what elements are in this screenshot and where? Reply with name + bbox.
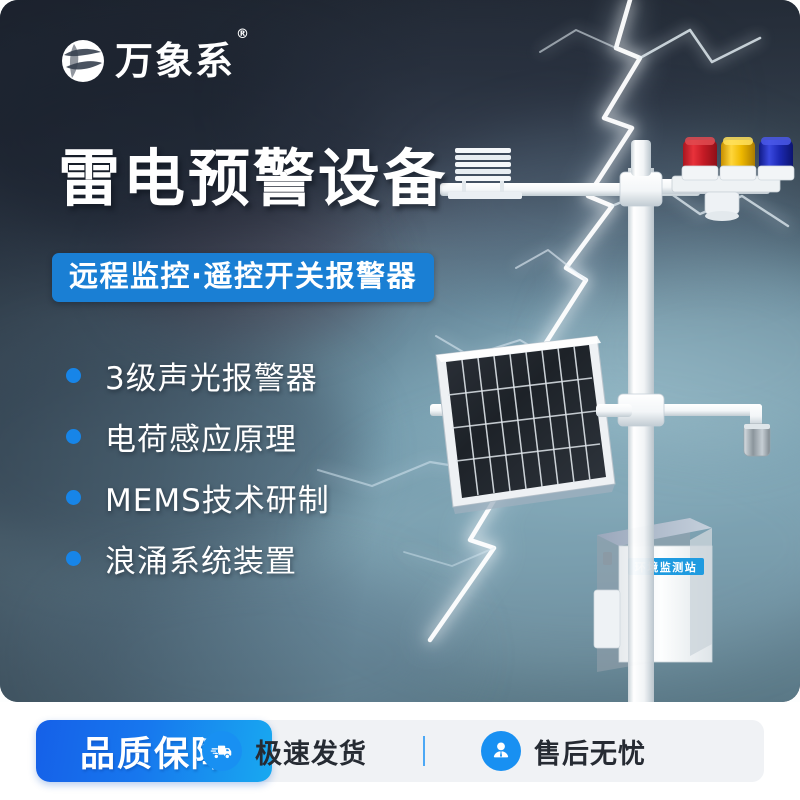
red-alarm-beacon <box>682 137 718 180</box>
promo-banner-page: 环境监测站 万象系® 雷电预警设备 远程监控·遥控开关报警器 <box>0 0 800 800</box>
blue-alarm-beacon <box>758 137 794 180</box>
brand-name: 万象系® <box>115 42 250 80</box>
mounting-pole-front <box>628 500 654 702</box>
camera-sensor <box>744 424 770 456</box>
yellow-alarm-beacon <box>720 137 756 180</box>
list-item: 3级声光报警器 <box>66 345 330 405</box>
feature-label: 3级声光报警器 <box>105 353 318 398</box>
divider <box>423 736 425 766</box>
hero-image: 环境监测站 万象系® 雷电预警设备 远程监控·遥控开关报警器 <box>0 0 800 702</box>
subtitle-badge: 远程监控·遥控开关报警器 <box>52 253 434 302</box>
feature-label: 浪涌系统装置 <box>105 536 297 581</box>
list-item: MEMS技术研制 <box>66 467 330 527</box>
page-title: 雷电预警设备 <box>58 148 448 210</box>
brand-logo[interactable]: 万象系® <box>60 38 250 84</box>
list-item: 浪涌系统装置 <box>66 528 330 588</box>
bullet-dot-icon <box>66 429 81 444</box>
registered-trademark-mark: ® <box>236 27 251 42</box>
feature-label: MEMS技术研制 <box>105 475 330 520</box>
delivery-truck-icon <box>202 731 242 771</box>
after-sales-item[interactable]: 售后无忧 <box>481 731 646 771</box>
pole-collar-upper <box>620 172 662 206</box>
bullet-dot-icon <box>66 490 81 505</box>
list-item: 电荷感应原理 <box>66 406 330 466</box>
after-sales-label: 售后无忧 <box>534 732 646 771</box>
feature-list: 3级声光报警器 电荷感应原理 MEMS技术研制 浪涌系统装置 <box>66 345 330 589</box>
fast-shipping-item[interactable]: 极速发货 <box>202 731 367 771</box>
bullet-dot-icon <box>66 551 81 566</box>
bullet-dot-icon <box>66 368 81 383</box>
feature-label: 电荷感应原理 <box>105 414 297 459</box>
solar-panel <box>436 336 632 514</box>
subtitle-badge-label: 远程监控·遥控开关报警器 <box>69 262 417 291</box>
cross-arm-lower-right <box>652 404 762 416</box>
customer-support-icon <box>481 731 521 771</box>
pole-cap <box>631 140 651 176</box>
trust-badges-bar: 品质保障 极速发货 <box>0 702 800 800</box>
alarm-speaker <box>705 192 739 221</box>
brand-name-text: 万象系 <box>115 39 235 83</box>
camera-arm-drop <box>750 404 762 426</box>
fast-shipping-label: 极速发货 <box>255 732 367 771</box>
globe-swoosh-icon <box>60 38 106 84</box>
